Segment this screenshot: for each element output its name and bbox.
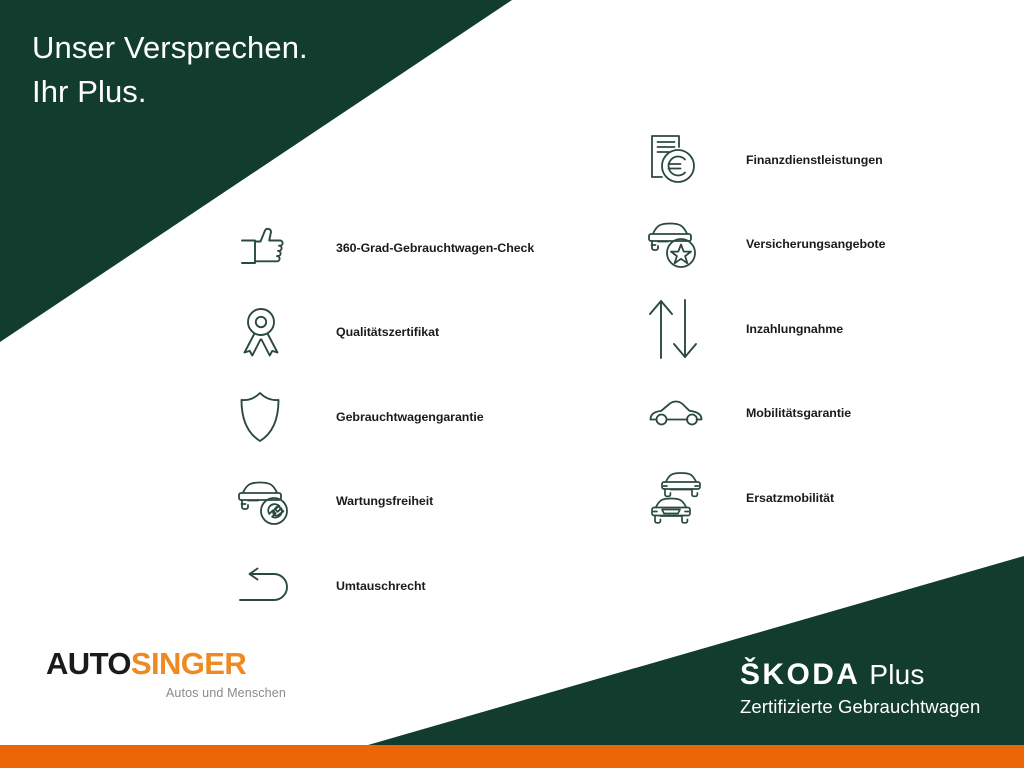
car-star-icon — [648, 213, 714, 277]
page-title: Unser Versprechen. Ihr Plus. — [32, 26, 308, 114]
feature-label: Qualitätszertifikat — [304, 325, 439, 340]
feature-item-360-check: 360-Grad-Gebrauchtwagen-Check — [238, 206, 568, 291]
shield-icon — [238, 385, 304, 449]
feature-label: Ersatzmobilität — [714, 491, 834, 506]
document-euro-icon — [648, 128, 714, 192]
feature-item-quality-certificate: Qualitätszertifikat — [238, 291, 568, 376]
feature-item-financial-services: Finanzdienstleistungen — [648, 118, 978, 203]
feature-list-left: 360-Grad-Gebrauchtwagen-Check Qualitätsz… — [238, 206, 568, 629]
feature-item-mobility-guarantee: Mobilitätsgarantie — [648, 372, 978, 457]
feature-label: Mobilitätsgarantie — [714, 406, 851, 421]
dealer-wordmark: AUTOSINGER — [46, 648, 286, 679]
feature-item-trade-in: Inzahlungnahme — [648, 287, 978, 372]
feature-label: Wartungsfreiheit — [304, 494, 433, 509]
bottom-orange-bar — [0, 745, 1024, 768]
brand-logo: ŠKODA Plus Zertifizierte Gebrauchtwagen — [740, 660, 980, 717]
up-down-arrows-icon — [648, 297, 714, 361]
feature-item-replacement-mobility: Ersatzmobilität — [648, 456, 978, 541]
brand-subline: Zertifizierte Gebrauchtwagen — [740, 696, 980, 717]
promo-slide: Unser Versprechen. Ihr Plus. 360-Grad-Ge… — [0, 0, 1024, 768]
return-arrow-icon — [238, 554, 304, 618]
headline-line-2: Ihr Plus. — [32, 70, 308, 114]
award-rosette-icon — [238, 301, 304, 365]
feature-item-right-of-return: Umtauschrecht — [238, 544, 568, 629]
thumbs-up-icon — [238, 216, 304, 280]
feature-item-insurance-offers: Versicherungsangebote — [648, 203, 978, 288]
car-side-icon — [648, 382, 714, 446]
brand-wordmark: ŠKODA Plus — [740, 660, 980, 690]
two-cars-icon — [648, 466, 714, 530]
feature-item-maintenance-free: Wartungsfreiheit — [238, 460, 568, 545]
car-wrench-icon — [238, 470, 304, 534]
dealer-word-accent: SINGER — [131, 646, 246, 681]
feature-label: Versicherungsangebote — [714, 237, 885, 252]
feature-list-right: Finanzdienstleistungen Versicherungsange… — [648, 118, 978, 541]
feature-label: Inzahlungnahme — [714, 322, 843, 337]
feature-label: 360-Grad-Gebrauchtwagen-Check — [304, 241, 534, 256]
feature-label: Umtauschrecht — [304, 579, 426, 594]
dealer-word-primary: AUTO — [46, 646, 131, 681]
headline-line-1: Unser Versprechen. — [32, 26, 308, 70]
dealer-logo: AUTOSINGER Autos und Menschen — [46, 648, 286, 700]
dealer-tagline: Autos und Menschen — [46, 686, 286, 700]
feature-label: Gebrauchtwagengarantie — [304, 410, 484, 425]
brand-suffix: Plus — [869, 661, 924, 689]
brand-name: ŠKODA — [740, 660, 860, 690]
feature-item-used-car-warranty: Gebrauchtwagengarantie — [238, 375, 568, 460]
feature-label: Finanzdienstleistungen — [714, 153, 883, 168]
